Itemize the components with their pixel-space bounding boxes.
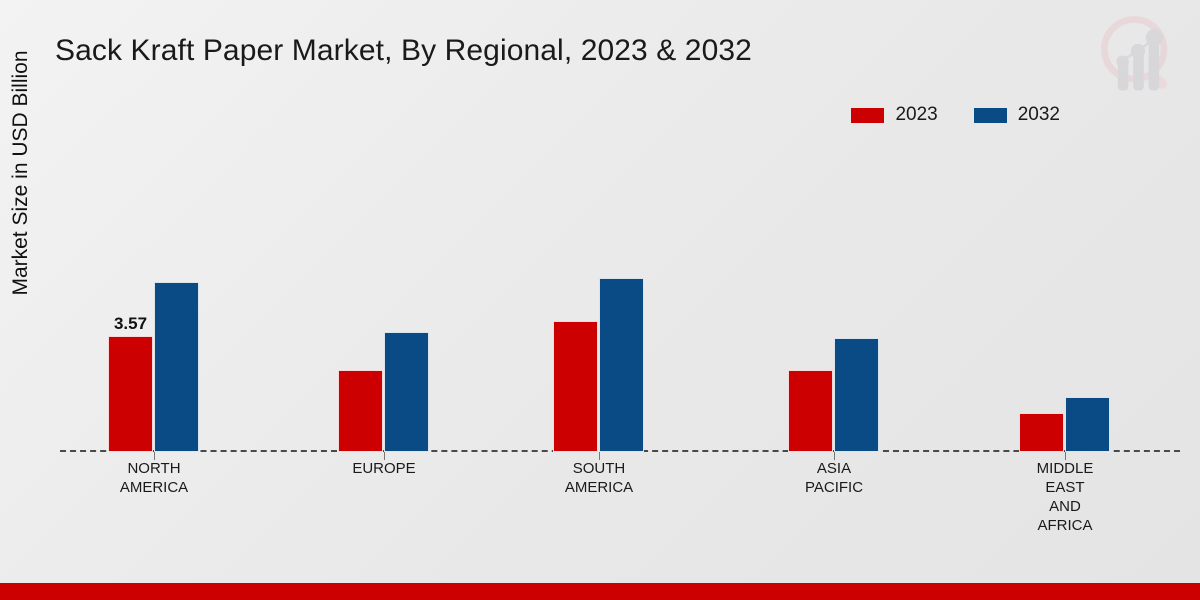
- legend-item-2032[interactable]: 2032: [974, 104, 1060, 126]
- category-label-line: SOUTH: [504, 459, 694, 478]
- y-axis-title: Market Size in USD Billion: [9, 13, 33, 333]
- category-label-line: MIDDLE: [970, 459, 1160, 478]
- bottom-accent-band: [0, 583, 1200, 600]
- chart-legend: 2023 2032: [851, 104, 1060, 126]
- bar-2023[interactable]: [788, 370, 833, 452]
- bar-group: [553, 140, 645, 452]
- category-label-line: NORTH: [59, 459, 249, 478]
- bar-2023[interactable]: [338, 370, 383, 452]
- bar-group: [1019, 140, 1111, 452]
- category-label-line: AMERICA: [504, 478, 694, 497]
- bar-2032[interactable]: [599, 278, 644, 452]
- bar-2032[interactable]: [154, 282, 199, 452]
- bar-2032[interactable]: [1065, 397, 1110, 452]
- x-axis-category-label: NORTHAMERICA: [59, 459, 249, 497]
- bar-2023[interactable]: [1019, 413, 1064, 452]
- category-label-line: PACIFIC: [739, 478, 929, 497]
- category-label-line: AND: [970, 497, 1160, 516]
- bar-group: 3.57: [108, 140, 200, 452]
- watermark-logo-icon: [1090, 6, 1186, 102]
- legend-item-2023[interactable]: 2023: [851, 104, 937, 126]
- legend-swatch-red-icon: [851, 108, 884, 123]
- legend-label-2032: 2032: [1018, 104, 1060, 126]
- x-axis-category-label: SOUTHAMERICA: [504, 459, 694, 497]
- bar-2023[interactable]: 3.57: [108, 336, 153, 452]
- bar-group: [788, 140, 880, 452]
- x-axis-category-label: EUROPE: [289, 459, 479, 478]
- chart-title: Sack Kraft Paper Market, By Regional, 20…: [55, 34, 752, 68]
- category-label-line: EUROPE: [289, 459, 479, 478]
- category-label-line: EAST: [970, 478, 1160, 497]
- bar-2023[interactable]: [553, 321, 598, 452]
- bar-2032[interactable]: [834, 338, 879, 452]
- category-label-line: AMERICA: [59, 478, 249, 497]
- bar-value-label: 3.57: [114, 314, 147, 334]
- bar-2032[interactable]: [384, 332, 429, 452]
- bar-group: [338, 140, 430, 452]
- category-label-line: AFRICA: [970, 516, 1160, 535]
- x-axis-category-label: ASIAPACIFIC: [739, 459, 929, 497]
- category-label-line: ASIA: [739, 459, 929, 478]
- chart-container: Sack Kraft Paper Market, By Regional, 20…: [0, 0, 1200, 600]
- x-axis-category-label: MIDDLEEASTANDAFRICA: [970, 459, 1160, 535]
- plot-area: 3.57: [60, 140, 1180, 452]
- legend-label-2023: 2023: [895, 104, 937, 126]
- legend-swatch-blue-icon: [974, 108, 1007, 123]
